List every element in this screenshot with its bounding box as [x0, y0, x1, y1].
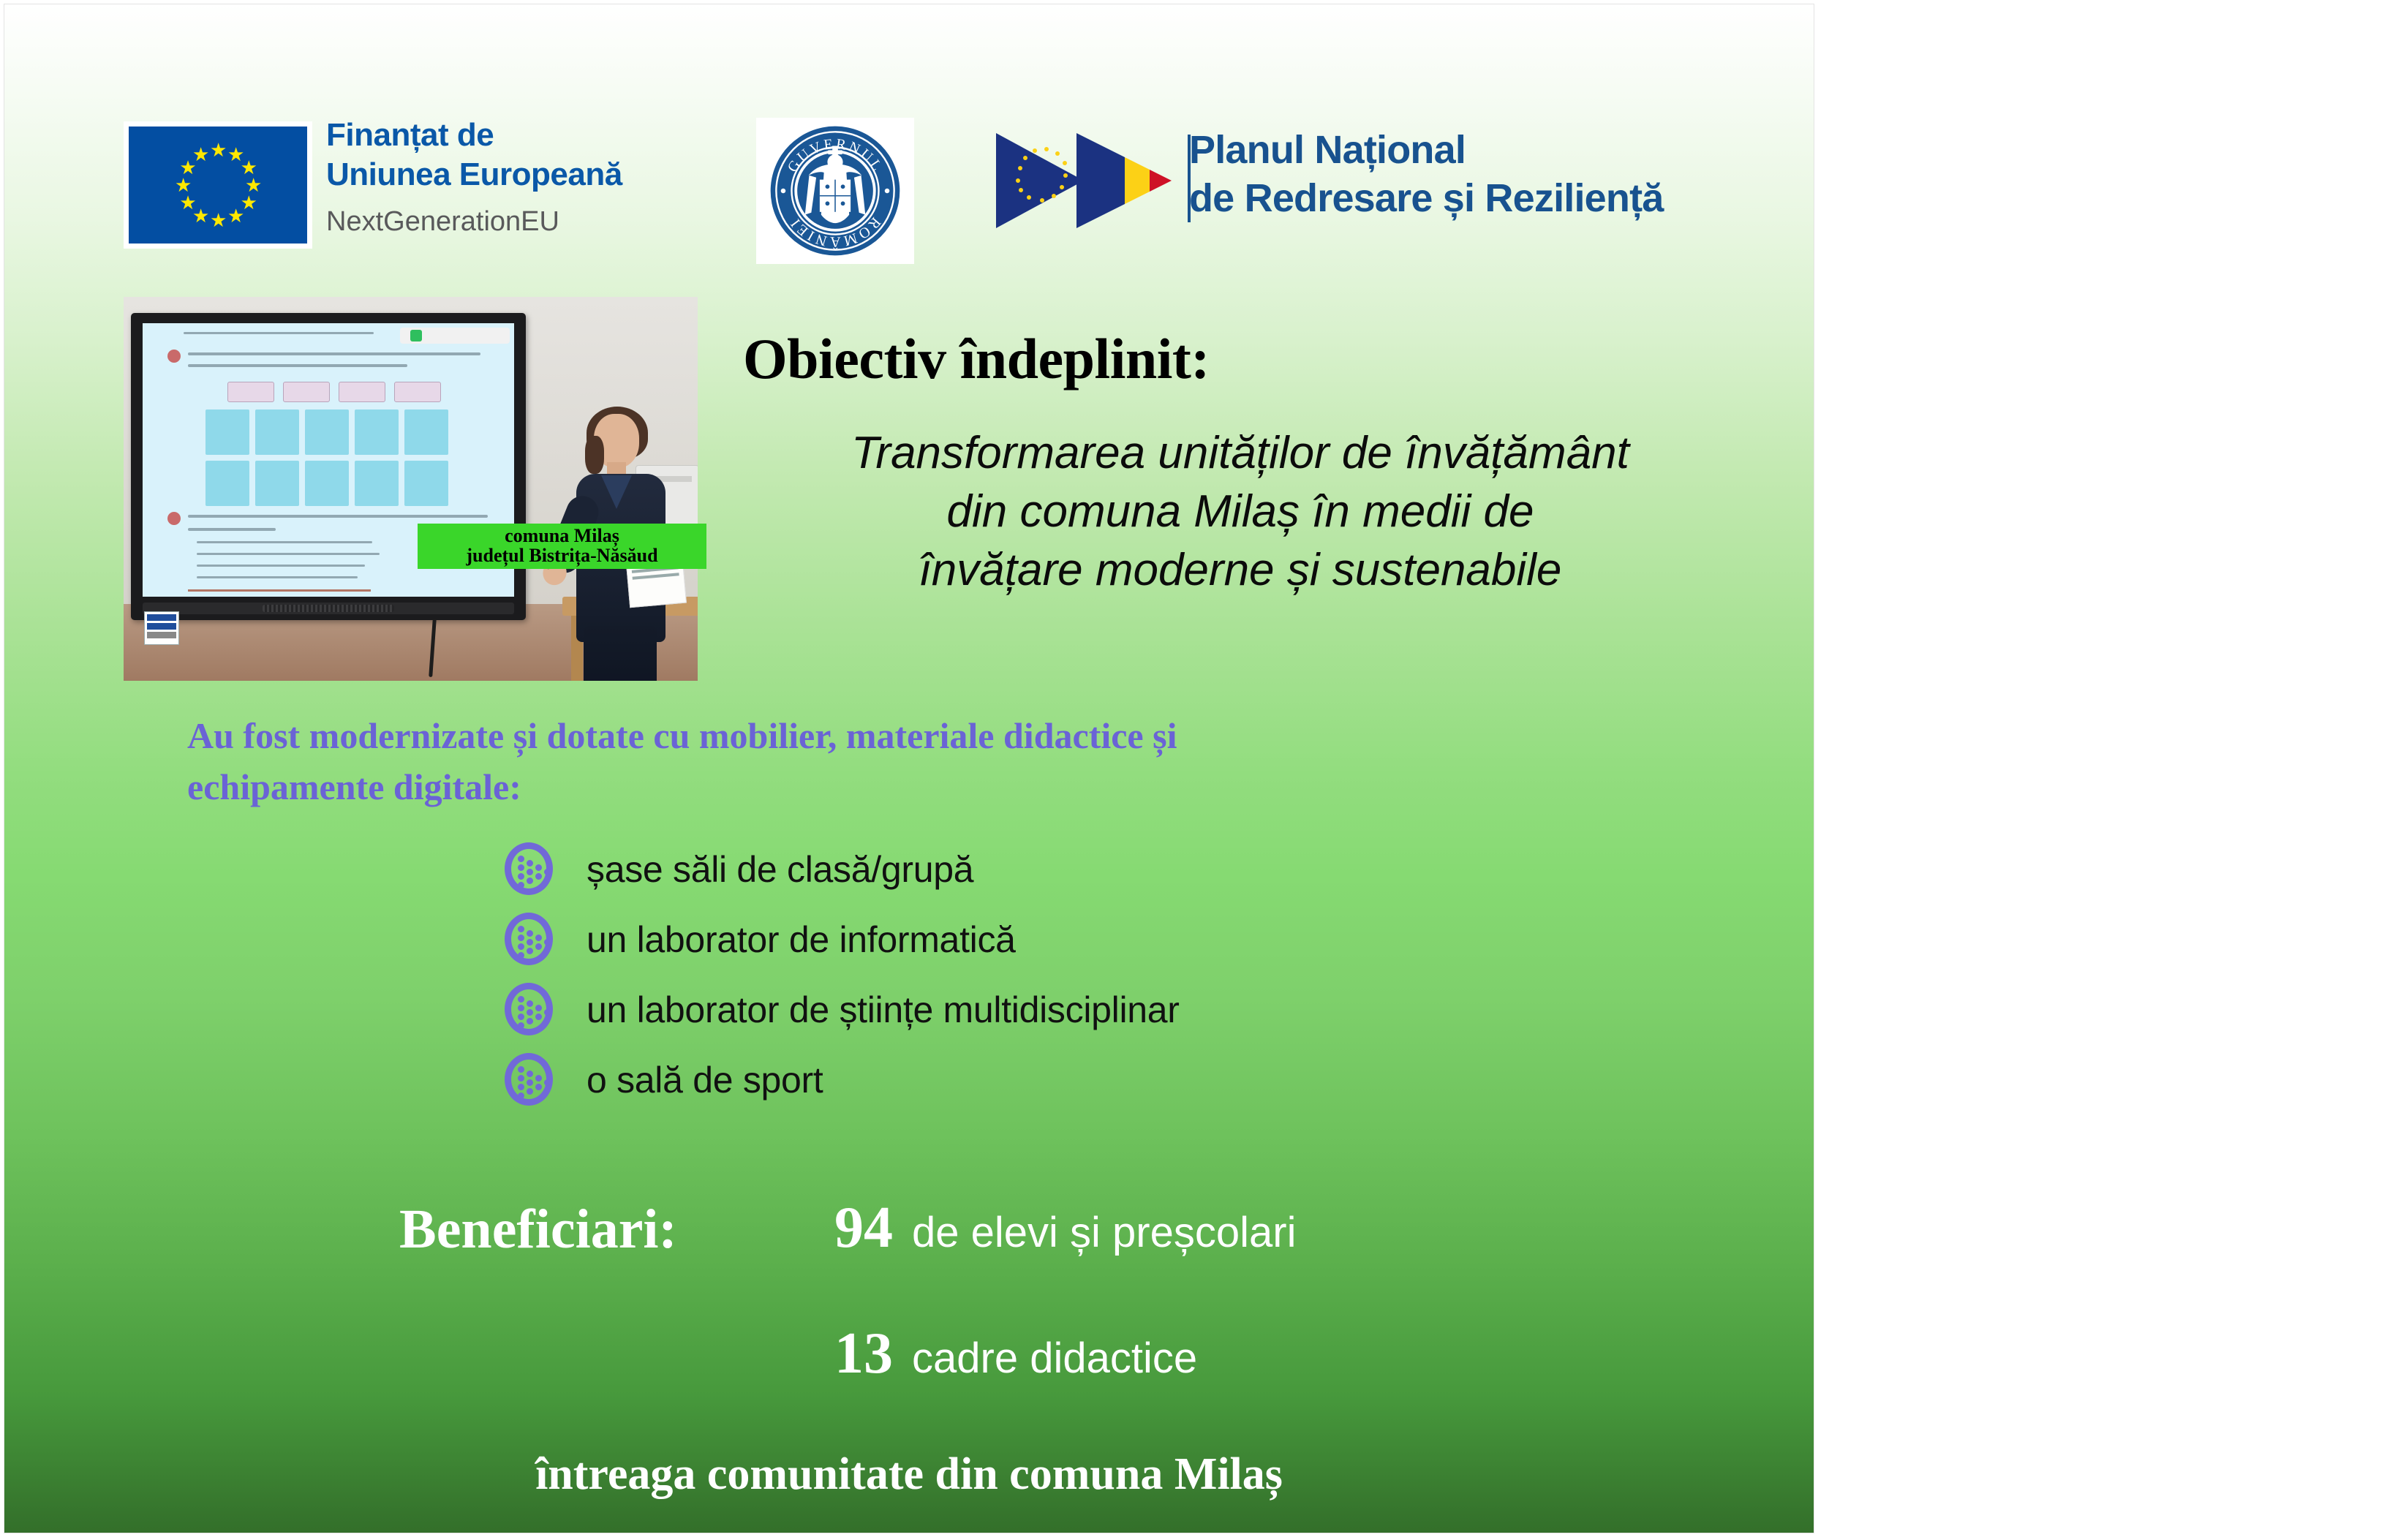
list-item-label: o sală de sport	[587, 1059, 823, 1101]
pnrr-divider	[1188, 135, 1191, 222]
beneficiaries-row: 94 de elevi și preșcolari	[834, 1195, 1296, 1261]
eu-star-icon: ★	[241, 159, 257, 175]
eu-flag-icon: ★★★★★★★★★★★★	[124, 121, 312, 249]
eu-star-icon: ★	[227, 208, 244, 224]
subtitle-line2: din comuna Milaș în medii de	[743, 483, 1738, 541]
pnrr-text: Planul Național de Redresare și Rezilien…	[1189, 126, 1796, 222]
beneficiaries-text: cadre didactice	[912, 1334, 1197, 1383]
beneficiaries-block: Beneficiari: 94 de elevi și preșcolari 1…	[4, 1182, 1814, 1423]
dotted-arrow-bullet-icon	[502, 981, 559, 1038]
subtitle-line3: învățare moderne și sustenabile	[743, 541, 1738, 600]
eu-star-icon: ★	[245, 177, 261, 193]
eu-funding-text: Finanțat de Uniunea Europeană NextGenera…	[326, 116, 736, 240]
dotted-arrow-bullet-icon	[502, 911, 559, 968]
list-item: o sală de sport	[502, 1045, 1745, 1115]
eu-sticker	[144, 611, 179, 645]
romanian-government-seal-icon: GUVERNUL ROMÂNIEI	[756, 118, 914, 264]
interactive-whiteboard	[131, 313, 526, 620]
classroom-photo	[124, 297, 698, 681]
poster-slide: ★★★★★★★★★★★★ Finanțat de Uniunea Europea…	[4, 4, 1814, 1533]
intro-line2: echipamente digitale:	[187, 761, 1621, 812]
eu-star-icon: ★	[192, 146, 208, 162]
list-item: șase săli de clasă/grupă	[502, 834, 1745, 905]
headline-subtitle: Transformarea unităților de învățământ d…	[743, 424, 1781, 600]
eu-star-icon: ★	[179, 195, 195, 211]
photo-label-line2: județul Bistrița-Năsăud	[466, 546, 657, 566]
whiteboard-speaker	[263, 605, 394, 612]
list-item: un laborator de științe multidisciplinar	[502, 975, 1745, 1045]
list-item: un laborator de informatică	[502, 905, 1745, 975]
photo-label-line1: comuna Milaș	[505, 526, 619, 546]
footer-text: întreaga comunitate din comuna Milaș	[4, 1449, 1814, 1501]
list-item-label: un laborator de științe multidisciplinar	[587, 989, 1180, 1031]
eu-line2: Uniunea Europeană	[326, 155, 736, 195]
eu-line1: Finanțat de	[326, 116, 736, 155]
facilities-list: șase săli de clasă/grupă un laborator de…	[502, 834, 1745, 1115]
eu-star-icon: ★	[210, 212, 226, 228]
beneficiaries-row: 13 cadre didactice	[834, 1321, 1197, 1387]
beneficiaries-number: 94	[834, 1195, 893, 1261]
photo-location-label: comuna Milaș județul Bistrița-Năsăud	[418, 524, 706, 569]
list-item-label: șase săli de clasă/grupă	[587, 848, 973, 891]
subtitle-line1: Transformarea unităților de învățământ	[743, 424, 1738, 483]
dotted-arrow-bullet-icon	[502, 1052, 559, 1109]
intro-line1: Au fost modernizate și dotate cu mobilie…	[187, 710, 1621, 761]
pnrr-line1: Planul Național	[1189, 126, 1796, 174]
pnrr-line2: de Redresare și Reziliență	[1189, 174, 1796, 222]
beneficiaries-number: 13	[834, 1321, 893, 1387]
page-title: Obiectiv îndeplinit:	[743, 326, 1781, 392]
eu-line3: NextGenerationEU	[326, 203, 736, 240]
eu-star-icon: ★	[175, 177, 191, 193]
pnrr-arrows-icon	[993, 130, 1174, 235]
eu-star-icon: ★	[210, 142, 226, 158]
beneficiaries-title: Beneficiari:	[399, 1198, 677, 1261]
intro-paragraph: Au fost modernizate și dotate cu mobilie…	[187, 710, 1621, 812]
beneficiaries-text: de elevi și preșcolari	[912, 1208, 1296, 1257]
headline-block: Obiectiv îndeplinit: Transformarea unită…	[743, 326, 1781, 600]
logo-bar: ★★★★★★★★★★★★ Finanțat de Uniunea Europea…	[4, 4, 1814, 282]
dotted-arrow-bullet-icon	[502, 841, 559, 898]
list-item-label: un laborator de informatică	[587, 918, 1016, 961]
